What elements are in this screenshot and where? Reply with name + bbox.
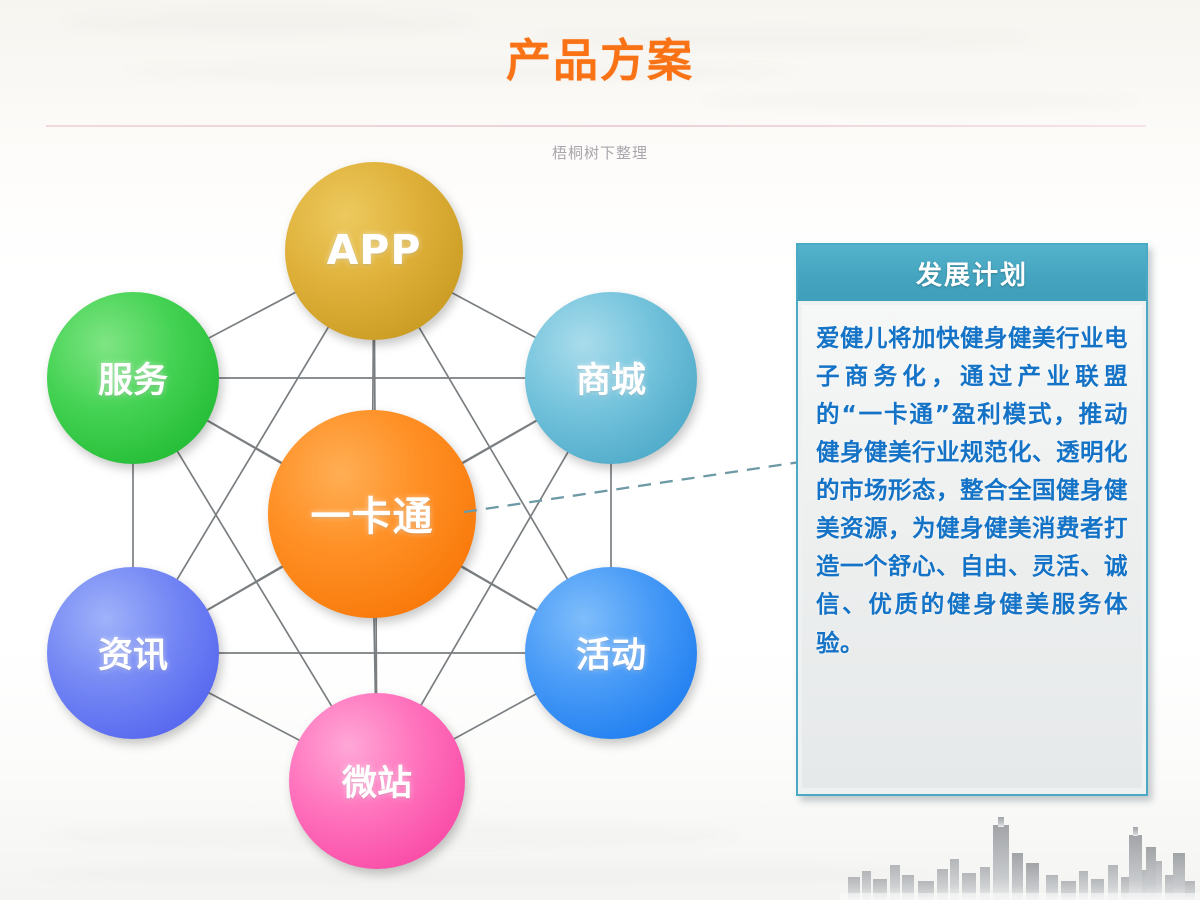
city-skyline-icon (840, 795, 1200, 900)
title-divider (46, 125, 1146, 127)
bg-texture (60, 10, 480, 36)
node-label: 资讯 (98, 627, 168, 678)
panel-header: 发展计划 (798, 245, 1146, 301)
bg-texture (700, 92, 1140, 110)
node-site[interactable]: 微站 (289, 693, 465, 869)
node-news[interactable]: 资讯 (47, 567, 219, 739)
node-label: 活动 (576, 627, 646, 678)
node-label: 一卡通 (311, 484, 434, 542)
node-label: APP (327, 226, 422, 274)
slide-canvas: 产品方案 梧桐树下整理 (0, 0, 1200, 900)
node-shop[interactable]: 商城 (525, 292, 697, 464)
node-serv[interactable]: 服务 (47, 292, 219, 464)
node-label: 微站 (342, 755, 412, 806)
panel-body: 爱健儿将加快健身健美行业电子商务化，通过产业联盟的“一卡通”盈利模式，推动健身健… (802, 305, 1142, 788)
node-app[interactable]: APP (285, 162, 463, 340)
development-plan-panel: 发展计划 爱健儿将加快健身健美行业电子商务化，通过产业联盟的“一卡通”盈利模式，… (796, 243, 1148, 796)
node-label: 服务 (98, 352, 168, 403)
node-label: 商城 (576, 352, 646, 403)
node-act[interactable]: 活动 (525, 567, 697, 739)
page-title: 产品方案 (0, 38, 1200, 83)
callout-dashed-line (460, 440, 810, 530)
panel-body-text: 爱健儿将加快健身健美行业电子商务化，通过产业联盟的“一卡通”盈利模式，推动健身健… (816, 319, 1128, 662)
node-core[interactable]: 一卡通 (268, 410, 476, 618)
